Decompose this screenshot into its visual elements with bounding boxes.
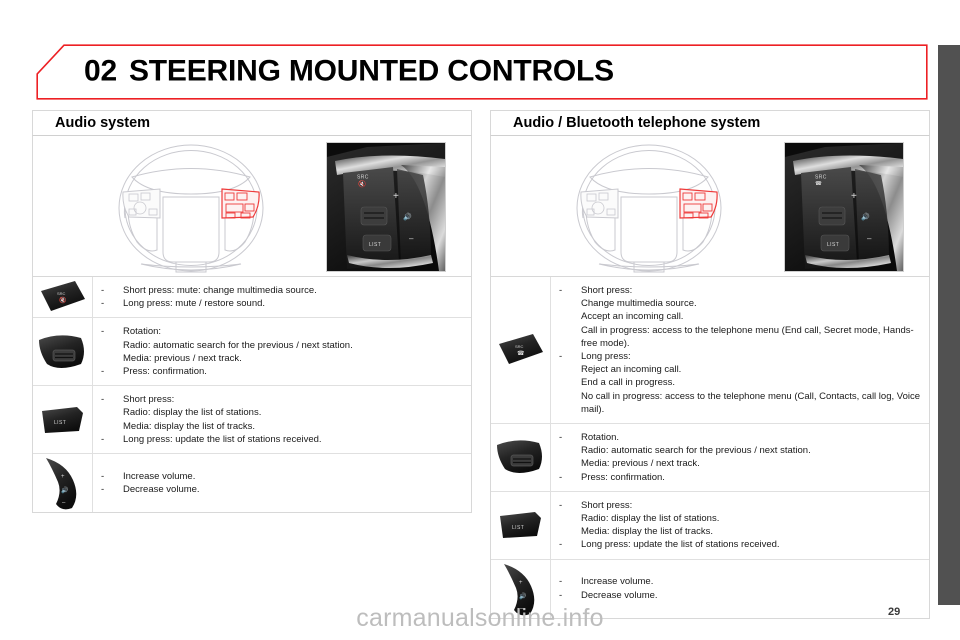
- svg-text:🔇: 🔇: [358, 180, 366, 188]
- bullet-lines: Increase volume.: [581, 575, 923, 588]
- bullet-line: Short press:: [581, 284, 923, 297]
- list-button-icon: LIST: [495, 508, 547, 542]
- bullet-line: Rotation:: [123, 325, 465, 338]
- control-description-cell: -Short press:Radio: display the list of …: [551, 492, 929, 559]
- bullet-lines: Decrease volume.: [123, 483, 465, 496]
- panel-header: Audio system: [32, 110, 472, 136]
- bullet-group: -Rotation.Radio: automatic search for th…: [559, 431, 923, 471]
- svg-text:SRC: SRC: [515, 344, 524, 349]
- src-phone-button-icon: SRC ☎: [495, 330, 547, 370]
- table-row: LIST -Short press:Radio: display the lis…: [33, 386, 471, 454]
- panel-figure: SRC 🔇 + 🔊 LIST –: [32, 136, 472, 277]
- bullet-line: Long press:: [581, 350, 923, 363]
- bullet-dash: -: [559, 350, 581, 416]
- bullet-dash: -: [559, 575, 581, 588]
- bullet-group: -Short press:Radio: display the list of …: [559, 499, 923, 539]
- page-edge-bar: [938, 45, 960, 605]
- bullet-group: -Long press:Reject an incoming call.End …: [559, 350, 923, 416]
- bullet-dash: -: [101, 284, 123, 297]
- svg-text:🔊: 🔊: [403, 212, 412, 221]
- bullet-dash: -: [559, 431, 581, 471]
- panel-title: Audio system: [55, 115, 150, 131]
- control-icon-cell: [491, 424, 551, 491]
- bullet-lines: Long press: update the list of stations …: [581, 538, 923, 551]
- bullet-lines: Long press: update the list of stations …: [123, 433, 465, 446]
- chapter-title-text: STEERING MOUNTED CONTROLS: [129, 54, 614, 87]
- table-row: -Rotation.Radio: automatic search for th…: [491, 424, 929, 492]
- bullet-group: -Decrease volume.: [101, 483, 465, 496]
- bullet-line: Long press: update the list of stations …: [123, 433, 465, 446]
- svg-text:🔊: 🔊: [861, 212, 870, 221]
- control-icon-cell: LIST: [33, 386, 93, 453]
- bullet-lines: Long press:Reject an incoming call.End a…: [581, 350, 923, 416]
- bullet-dash: -: [559, 284, 581, 350]
- svg-text:+: +: [851, 191, 857, 202]
- control-icon-cell: SRC ☎: [491, 277, 551, 423]
- bullet-group: -Short press:Change multimedia source.Ac…: [559, 284, 923, 350]
- bullet-group: -Press: confirmation.: [559, 471, 923, 484]
- svg-text:SRC: SRC: [357, 175, 369, 181]
- control-pod-photo: SRC 🔇 + 🔊 LIST –: [326, 142, 446, 272]
- rotary-wheel-button-icon: [37, 330, 89, 374]
- table-row: SRC 🔇 -Short press: mute: change multime…: [33, 277, 471, 318]
- bullet-group: -Short press: mute: change multimedia so…: [101, 284, 465, 297]
- svg-text:LIST: LIST: [827, 242, 839, 248]
- panel-audio-system: Audio system: [32, 110, 472, 619]
- control-description-cell: -Short press:Radio: display the list of …: [93, 386, 471, 453]
- panel-header: Audio / Bluetooth telephone system: [490, 110, 930, 136]
- bullet-dash: -: [559, 538, 581, 551]
- bullet-dash: -: [101, 483, 123, 496]
- bullet-dash: -: [101, 325, 123, 365]
- bullet-group: -Increase volume.: [559, 575, 923, 588]
- table-row: + 🔊 – -Increase volume.-Decrease volume.: [33, 454, 471, 512]
- bullet-group: -Short press:Radio: display the list of …: [101, 393, 465, 433]
- bullet-line: Long press: mute / restore sound.: [123, 297, 465, 310]
- steering-control-photo: SRC ☎ + 🔊 LIST –: [785, 143, 903, 271]
- svg-text:LIST: LIST: [54, 420, 66, 426]
- bullet-dash: -: [101, 470, 123, 483]
- svg-text:☎: ☎: [517, 350, 525, 357]
- steering-wheel-diagram: [543, 142, 755, 274]
- bullet-line: Rotation.: [581, 431, 923, 444]
- bullet-group: -Long press: update the list of stations…: [559, 538, 923, 551]
- bullet-line: Short press:: [123, 393, 465, 406]
- panel-audio-bluetooth-telephone-system: Audio / Bluetooth telephone system: [490, 110, 930, 619]
- bullet-lines: Press: confirmation.: [581, 471, 923, 484]
- table-row: -Rotation:Radio: automatic search for th…: [33, 318, 471, 386]
- bullet-dash: -: [559, 471, 581, 484]
- svg-text:🔊: 🔊: [61, 486, 69, 494]
- control-icon-cell: LIST: [491, 492, 551, 559]
- bullet-line: Increase volume.: [581, 575, 923, 588]
- bullet-line: Media: display the list of tracks.: [581, 525, 923, 538]
- svg-text:–: –: [409, 234, 414, 243]
- bullet-dash: -: [101, 433, 123, 446]
- bullet-group: -Increase volume.: [101, 470, 465, 483]
- control-description-cell: -Increase volume.-Decrease volume.: [93, 454, 471, 512]
- svg-text:SRC: SRC: [815, 175, 827, 181]
- bullet-lines: Press: confirmation.: [123, 365, 465, 378]
- bullet-lines: Long press: mute / restore sound.: [123, 297, 465, 310]
- svg-text:–: –: [867, 234, 872, 243]
- bullet-line: Media: previous / next track.: [123, 352, 465, 365]
- bullet-group: -Press: confirmation.: [101, 365, 465, 378]
- bullet-line: Decrease volume.: [581, 589, 923, 602]
- svg-text:LIST: LIST: [512, 525, 524, 531]
- panel-title: Audio / Bluetooth telephone system: [513, 115, 760, 131]
- bullet-line: Short press: mute: change multimedia sou…: [123, 284, 465, 297]
- bullet-line: Increase volume.: [123, 470, 465, 483]
- control-icon-cell: [33, 318, 93, 385]
- volume-rocker-icon: + 🔊 –: [40, 454, 86, 512]
- svg-text:+: +: [61, 474, 65, 480]
- bullet-line: Radio: automatic search for the previous…: [581, 444, 923, 457]
- panels-container: Audio system: [32, 110, 930, 619]
- bullet-group: -Long press: update the list of stations…: [101, 433, 465, 446]
- bullet-line: Press: confirmation.: [123, 365, 465, 378]
- svg-text:+: +: [393, 191, 399, 202]
- control-description-cell: -Rotation.Radio: automatic search for th…: [551, 424, 929, 491]
- bullet-line: Reject an incoming call.: [581, 363, 923, 376]
- bullet-line: Call in progress: access to the telephon…: [581, 324, 923, 350]
- bullet-group: -Long press: mute / restore sound.: [101, 297, 465, 310]
- bullet-lines: Rotation.Radio: automatic search for the…: [581, 431, 923, 471]
- steering-wheel-diagram: [85, 142, 297, 274]
- src-mute-button-icon: SRC 🔇: [37, 277, 89, 317]
- bullet-line: Change multimedia source.: [581, 297, 923, 310]
- steering-control-photo: SRC 🔇 + 🔊 LIST –: [327, 143, 445, 271]
- table-row: LIST -Short press:Radio: display the lis…: [491, 492, 929, 560]
- bullet-line: Radio: display the list of stations.: [123, 406, 465, 419]
- bullet-dash: -: [101, 365, 123, 378]
- rotary-wheel-button-icon: [495, 435, 547, 479]
- bullet-line: Radio: display the list of stations.: [581, 512, 923, 525]
- bullet-line: Accept an incoming call.: [581, 310, 923, 323]
- control-description-cell: -Short press: mute: change multimedia so…: [93, 277, 471, 317]
- bullet-dash: -: [559, 589, 581, 602]
- control-icon-cell: SRC 🔇: [33, 277, 93, 317]
- control-pod-photo: SRC ☎ + 🔊 LIST –: [784, 142, 904, 272]
- bullet-lines: Increase volume.: [123, 470, 465, 483]
- bullet-line: Media: display the list of tracks.: [123, 420, 465, 433]
- bullet-line: No call in progress: access to the telep…: [581, 390, 923, 416]
- page-title: 02STEERING MOUNTED CONTROLS: [84, 54, 614, 88]
- bullet-dash: -: [101, 297, 123, 310]
- svg-text:+: +: [519, 580, 523, 586]
- list-button-icon: LIST: [37, 403, 89, 437]
- bullet-lines: Decrease volume.: [581, 589, 923, 602]
- svg-text:SRC: SRC: [57, 291, 66, 296]
- chapter-header: 02STEERING MOUNTED CONTROLS: [36, 44, 928, 100]
- bullet-line: Press: confirmation.: [581, 471, 923, 484]
- bullet-line: Decrease volume.: [123, 483, 465, 496]
- site-watermark: carmanualsonline.info: [0, 604, 960, 633]
- control-description-cell: -Short press:Change multimedia source.Ac…: [551, 277, 929, 423]
- svg-text:LIST: LIST: [369, 242, 381, 248]
- control-description-cell: -Rotation:Radio: automatic search for th…: [93, 318, 471, 385]
- bullet-dash: -: [559, 499, 581, 539]
- bullet-dash: -: [101, 393, 123, 433]
- page-number: 29: [888, 606, 900, 618]
- bullet-lines: Short press: mute: change multimedia sou…: [123, 284, 465, 297]
- table-row: SRC ☎ -Short press:Change multimedia sou…: [491, 277, 929, 424]
- bullet-line: Long press: update the list of stations …: [581, 538, 923, 551]
- bullet-group: -Decrease volume.: [559, 589, 923, 602]
- bullet-line: Radio: automatic search for the previous…: [123, 339, 465, 352]
- control-table: SRC ☎ -Short press:Change multimedia sou…: [490, 277, 930, 619]
- svg-text:🔊: 🔊: [519, 592, 527, 600]
- svg-text:🔇: 🔇: [59, 296, 67, 304]
- control-table: SRC 🔇 -Short press: mute: change multime…: [32, 277, 472, 513]
- bullet-line: End a call in progress.: [581, 376, 923, 389]
- control-icon-cell: + 🔊 –: [33, 454, 93, 512]
- bullet-lines: Short press:Radio: display the list of s…: [123, 393, 465, 433]
- bullet-lines: Short press:Radio: display the list of s…: [581, 499, 923, 539]
- bullet-lines: Short press:Change multimedia source.Acc…: [581, 284, 923, 350]
- bullet-line: Short press:: [581, 499, 923, 512]
- panel-figure: SRC ☎ + 🔊 LIST –: [490, 136, 930, 277]
- bullet-group: -Rotation:Radio: automatic search for th…: [101, 325, 465, 365]
- bullet-lines: Rotation:Radio: automatic search for the…: [123, 325, 465, 365]
- svg-text:☎: ☎: [815, 180, 823, 187]
- chapter-number: 02: [84, 54, 117, 87]
- bullet-line: Media: previous / next track.: [581, 457, 923, 470]
